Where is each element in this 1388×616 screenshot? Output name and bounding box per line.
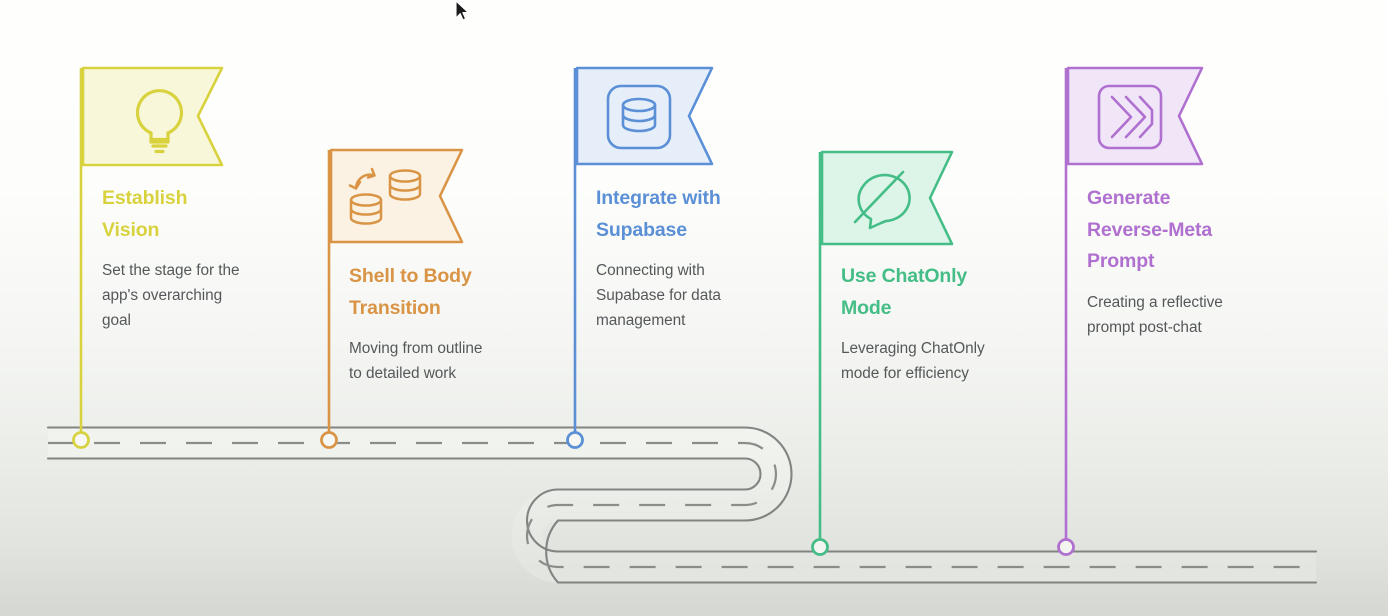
milestone-title-shell-to-body-transition: Shell to Body Transition [349,261,549,324]
road-marker-shell-to-body-transition [322,433,337,448]
milestone-description-integrate-with-supabase: Connecting with Supabase for data manage… [596,259,792,334]
milestone-description-generate-reverse-meta-prompt: Creating a reflective prompt post-chat [1087,291,1287,341]
road-marker-use-chatonly-mode [813,540,828,555]
road-marker-integrate-with-supabase [568,433,583,448]
milestone-title-establish-vision: Establish Vision [102,183,298,246]
road-marker-generate-reverse-meta-prompt [1059,540,1074,555]
roadmap-diagram: Establish Vision Set the stage for the a… [0,0,1388,616]
milestone-title-integrate-with-supabase: Integrate with Supabase [596,183,792,246]
milestone-card-integrate-with-supabase: Integrate with Supabase Connecting with … [596,183,792,334]
milestone-description-shell-to-body-transition: Moving from outline to detailed work [349,337,549,387]
road-marker-establish-vision [74,433,89,448]
milestone-card-use-chatonly-mode: Use ChatOnly Mode Leveraging ChatOnly mo… [841,261,1046,387]
flag-integrate-with-supabase [577,68,712,164]
flag-use-chatonly-mode [822,152,952,244]
flag-establish-vision [83,68,222,165]
flag-shell-to-body-transition [331,150,462,242]
milestone-title-generate-reverse-meta-prompt: Generate Reverse-Meta Prompt [1087,183,1287,278]
milestone-description-establish-vision: Set the stage for the app's overarching … [102,259,298,334]
milestone-card-shell-to-body-transition: Shell to Body Transition Moving from out… [349,261,549,387]
milestone-card-generate-reverse-meta-prompt: Generate Reverse-Meta Prompt Creating a … [1087,183,1287,341]
milestone-description-use-chatonly-mode: Leveraging ChatOnly mode for efficiency [841,337,1046,387]
milestone-title-use-chatonly-mode: Use ChatOnly Mode [841,261,1046,324]
milestone-card-establish-vision: Establish Vision Set the stage for the a… [102,183,298,334]
flag-generate-reverse-meta-prompt [1068,68,1202,164]
